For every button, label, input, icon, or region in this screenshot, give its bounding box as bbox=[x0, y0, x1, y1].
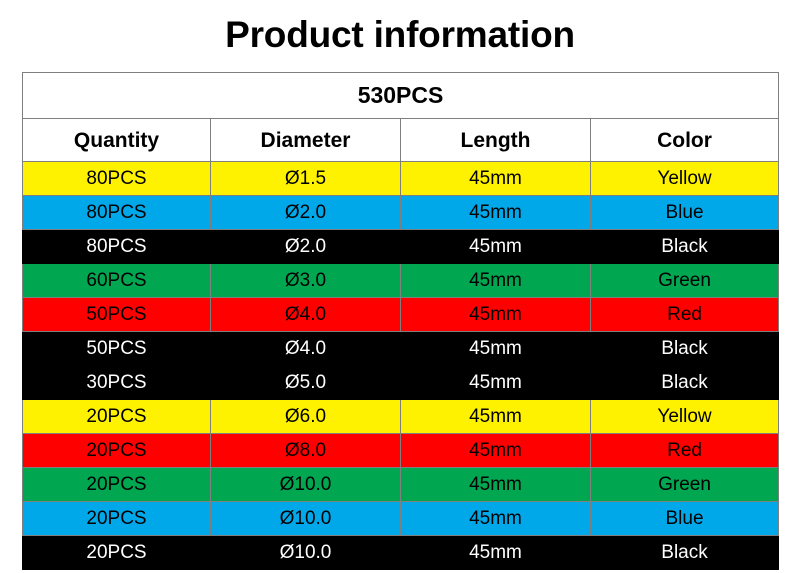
column-header-diameter: Diameter bbox=[211, 119, 401, 162]
table-row: 50PCSØ4.045mmBlack bbox=[23, 332, 779, 366]
cell-color: Black bbox=[591, 230, 779, 264]
cell-quantity: 30PCS bbox=[23, 366, 211, 400]
cell-diameter: Ø2.0 bbox=[211, 230, 401, 264]
cell-length: 45mm bbox=[401, 162, 591, 196]
page-title: Product information bbox=[0, 13, 800, 57]
table-row: 20PCSØ6.045mmYellow bbox=[23, 400, 779, 434]
cell-color: Yellow bbox=[591, 162, 779, 196]
cell-quantity: 80PCS bbox=[23, 162, 211, 196]
cell-length: 45mm bbox=[401, 366, 591, 400]
cell-length: 45mm bbox=[401, 298, 591, 332]
column-header-color: Color bbox=[591, 119, 779, 162]
cell-quantity: 50PCS bbox=[23, 332, 211, 366]
cell-diameter: Ø5.0 bbox=[211, 366, 401, 400]
cell-length: 45mm bbox=[401, 264, 591, 298]
cell-quantity: 80PCS bbox=[23, 230, 211, 264]
column-header-quantity: Quantity bbox=[23, 119, 211, 162]
cell-diameter: Ø8.0 bbox=[211, 434, 401, 468]
cell-diameter: Ø4.0 bbox=[211, 332, 401, 366]
table-row: 80PCSØ1.545mmYellow bbox=[23, 162, 779, 196]
column-header-length: Length bbox=[401, 119, 591, 162]
product-information-page: Product information 530PCS Quantity Diam… bbox=[0, 0, 800, 573]
cell-length: 45mm bbox=[401, 468, 591, 502]
cell-color: Green bbox=[591, 264, 779, 298]
cell-diameter: Ø6.0 bbox=[211, 400, 401, 434]
cell-diameter: Ø1.5 bbox=[211, 162, 401, 196]
cell-color: Blue bbox=[591, 196, 779, 230]
cell-color: Blue bbox=[591, 502, 779, 536]
cell-quantity: 50PCS bbox=[23, 298, 211, 332]
cell-length: 45mm bbox=[401, 332, 591, 366]
cell-color: Black bbox=[591, 536, 779, 570]
table-row: 80PCSØ2.045mmBlack bbox=[23, 230, 779, 264]
cell-diameter: Ø2.0 bbox=[211, 196, 401, 230]
cell-diameter: Ø10.0 bbox=[211, 468, 401, 502]
table-row: 30PCSØ5.045mmBlack bbox=[23, 366, 779, 400]
cell-color: Black bbox=[591, 366, 779, 400]
table-row: 20PCSØ10.045mmBlack bbox=[23, 536, 779, 570]
table-row: 20PCSØ10.045mmBlue bbox=[23, 502, 779, 536]
product-spec-table: 530PCS Quantity Diameter Length Color 80… bbox=[22, 72, 779, 570]
table-row: 80PCSØ2.045mmBlue bbox=[23, 196, 779, 230]
cell-color: Red bbox=[591, 298, 779, 332]
cell-color: Yellow bbox=[591, 400, 779, 434]
cell-quantity: 20PCS bbox=[23, 400, 211, 434]
table-row: 20PCSØ8.045mmRed bbox=[23, 434, 779, 468]
table-total-row: 530PCS bbox=[23, 73, 779, 119]
cell-length: 45mm bbox=[401, 502, 591, 536]
cell-length: 45mm bbox=[401, 434, 591, 468]
cell-color: Black bbox=[591, 332, 779, 366]
cell-color: Red bbox=[591, 434, 779, 468]
cell-quantity: 20PCS bbox=[23, 434, 211, 468]
cell-length: 45mm bbox=[401, 230, 591, 264]
cell-quantity: 20PCS bbox=[23, 536, 211, 570]
cell-diameter: Ø3.0 bbox=[211, 264, 401, 298]
cell-length: 45mm bbox=[401, 400, 591, 434]
table-row: 60PCSØ3.045mmGreen bbox=[23, 264, 779, 298]
table-row: 50PCSØ4.045mmRed bbox=[23, 298, 779, 332]
cell-length: 45mm bbox=[401, 536, 591, 570]
total-quantity-cell: 530PCS bbox=[23, 73, 779, 119]
spec-table-body: 530PCS Quantity Diameter Length Color 80… bbox=[23, 73, 779, 570]
table-row: 20PCSØ10.045mmGreen bbox=[23, 468, 779, 502]
cell-color: Green bbox=[591, 468, 779, 502]
cell-quantity: 20PCS bbox=[23, 502, 211, 536]
cell-quantity: 80PCS bbox=[23, 196, 211, 230]
cell-quantity: 20PCS bbox=[23, 468, 211, 502]
cell-diameter: Ø4.0 bbox=[211, 298, 401, 332]
cell-diameter: Ø10.0 bbox=[211, 536, 401, 570]
cell-length: 45mm bbox=[401, 196, 591, 230]
cell-quantity: 60PCS bbox=[23, 264, 211, 298]
table-header-row: Quantity Diameter Length Color bbox=[23, 119, 779, 162]
cell-diameter: Ø10.0 bbox=[211, 502, 401, 536]
